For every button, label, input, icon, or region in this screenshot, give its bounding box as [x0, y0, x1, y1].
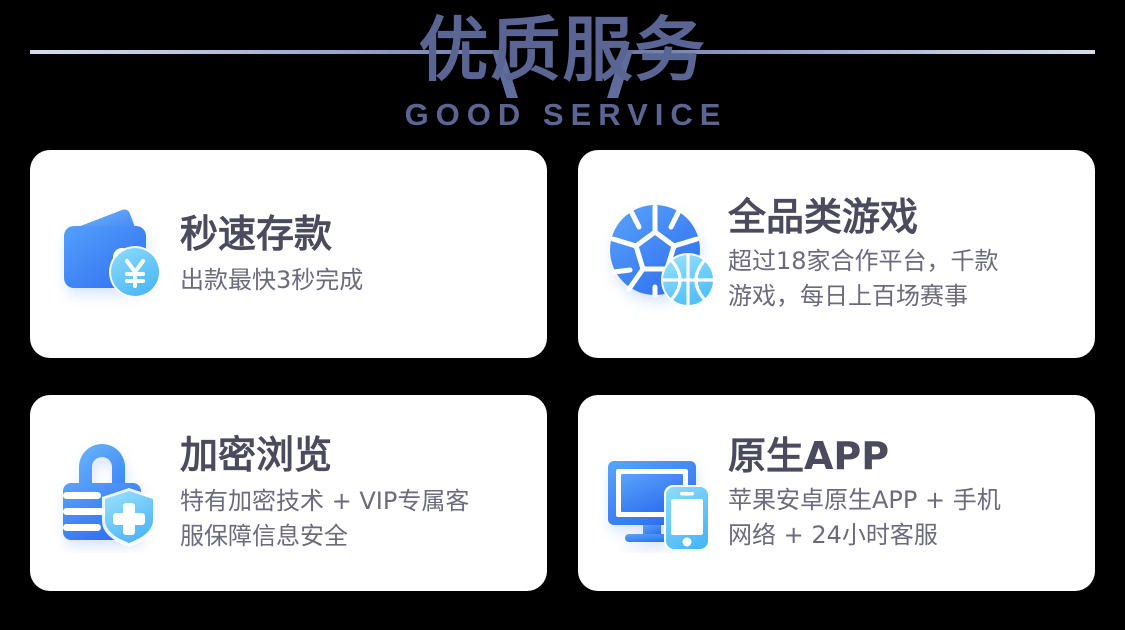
wallet-yen-icon	[52, 194, 172, 314]
card-subtitle: 特有加密技术 + VIP专属客服保障信息安全	[180, 484, 531, 554]
card-icon-slot	[578, 150, 728, 358]
page-header: 优质服务 GOOD SERVICE	[0, 0, 1125, 148]
card-subtitle: 超过18家合作平台，千款游戏，每日上百场赛事	[728, 244, 1079, 314]
card-icon-slot	[578, 395, 728, 591]
card-text-slot: 原生APP 苹果安卓原生APP + 手机网络 + 24小时客服	[728, 433, 1095, 553]
feature-card-all-games[interactable]: 全品类游戏 超过18家合作平台，千款游戏，每日上百场赛事	[578, 150, 1095, 358]
card-icon-slot	[30, 150, 180, 358]
feature-card-grid: 秒速存款 出款最快3秒完成	[30, 150, 1095, 591]
lock-shield-icon	[52, 433, 172, 553]
card-title: 全品类游戏	[728, 194, 1079, 240]
card-text-slot: 秒速存款 出款最快3秒完成	[180, 211, 547, 298]
card-subtitle: 苹果安卓原生APP + 手机网络 + 24小时客服	[728, 483, 1079, 553]
card-title: 加密浏览	[180, 432, 531, 478]
card-subtitle: 出款最快3秒完成	[180, 263, 531, 298]
card-text-slot: 全品类游戏 超过18家合作平台，千款游戏，每日上百场赛事	[728, 194, 1095, 314]
card-icon-slot	[30, 395, 180, 591]
card-title: 原生APP	[728, 433, 1079, 479]
feature-card-native-app[interactable]: 原生APP 苹果安卓原生APP + 手机网络 + 24小时客服	[578, 395, 1095, 591]
page-subtitle: GOOD SERVICE	[0, 96, 1125, 134]
page-title: 优质服务	[0, 8, 1125, 92]
feature-card-encrypted-browsing[interactable]: 加密浏览 特有加密技术 + VIP专属客服保障信息安全	[30, 395, 547, 591]
monitor-phone-icon	[600, 433, 720, 553]
soccer-basketball-icon	[600, 194, 720, 314]
feature-card-instant-deposit[interactable]: 秒速存款 出款最快3秒完成	[30, 150, 547, 358]
card-text-slot: 加密浏览 特有加密技术 + VIP专属客服保障信息安全	[180, 432, 547, 554]
card-title: 秒速存款	[180, 211, 531, 257]
